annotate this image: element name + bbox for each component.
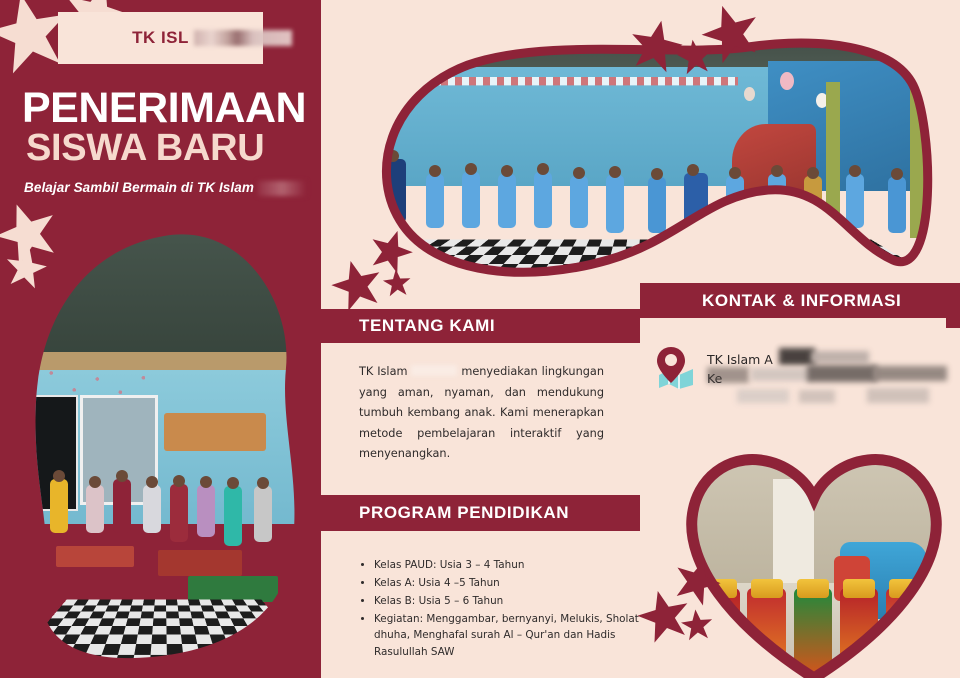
section-header-about: TENTANG KAMI bbox=[321, 309, 640, 343]
list-item: Kelas PAUD: Usia 3 – 4 Tahun bbox=[374, 557, 644, 574]
school-logo-text: TK ISL bbox=[132, 28, 189, 48]
map-pin-icon bbox=[655, 345, 697, 389]
photo-traditional-costumes bbox=[686, 452, 942, 678]
school-logo-box: TK ISL bbox=[58, 12, 263, 64]
poster-canvas: TK ISL PENERIMAAN SISWA BARU Belajar Sam… bbox=[0, 0, 960, 678]
about-body-text: TK Islam menyediakan lingkungan yang ama… bbox=[359, 362, 604, 465]
section-header-program: PROGRAM PENDIDIKAN bbox=[321, 495, 640, 531]
section-header-kontak: KONTAK & INFORMASI bbox=[640, 283, 960, 318]
list-item: Kelas A: Usia 4 –5 Tahun bbox=[374, 575, 644, 592]
photo-scene-heart bbox=[686, 452, 942, 678]
page-title-line1: PENERIMAAN bbox=[22, 88, 322, 129]
about-body-part1: TK Islam bbox=[359, 365, 408, 378]
about-heading-label: TENTANG KAMI bbox=[321, 316, 495, 336]
photo-praying-children bbox=[14, 232, 314, 662]
about-redaction bbox=[411, 365, 457, 376]
contact-redaction bbox=[737, 389, 789, 403]
contact-redaction bbox=[707, 367, 749, 383]
contact-redaction bbox=[867, 388, 929, 403]
edge-accent-1 bbox=[946, 288, 960, 328]
contact-text-block: TK Islam A Ke bbox=[707, 345, 955, 389]
contact-redaction bbox=[751, 368, 811, 381]
contact-redaction bbox=[811, 351, 869, 363]
star-maroon-mid-3 bbox=[382, 268, 412, 298]
kontak-heading-label: KONTAK & INFORMASI bbox=[640, 291, 901, 311]
contact-redaction bbox=[807, 365, 877, 382]
star-maroon-bottom-2 bbox=[672, 556, 722, 606]
tagline-redaction bbox=[258, 181, 306, 196]
contact-row: TK Islam A Ke bbox=[655, 345, 955, 389]
logo-redaction bbox=[194, 30, 292, 46]
star-maroon-bottom-3 bbox=[680, 608, 714, 642]
about-body-part2: menyediakan lingkungan yang aman, nyaman… bbox=[359, 365, 604, 460]
list-item: Kegiatan: Menggambar, bernyanyi, Melukis… bbox=[374, 611, 644, 662]
star-maroon-top-3 bbox=[676, 38, 714, 76]
program-heading-label: PROGRAM PENDIDIKAN bbox=[321, 503, 569, 523]
contact-redaction bbox=[779, 348, 815, 365]
contact-redaction bbox=[799, 390, 835, 403]
program-list: Kelas PAUD: Usia 3 – 4 Tahun Kelas A: Us… bbox=[362, 557, 644, 662]
contact-redaction bbox=[873, 366, 947, 381]
list-item: Kelas B: Usia 5 – 6 Tahun bbox=[374, 593, 644, 610]
page-title-line2: SISWA BARU bbox=[26, 130, 326, 166]
photo-scene-left bbox=[14, 232, 314, 662]
